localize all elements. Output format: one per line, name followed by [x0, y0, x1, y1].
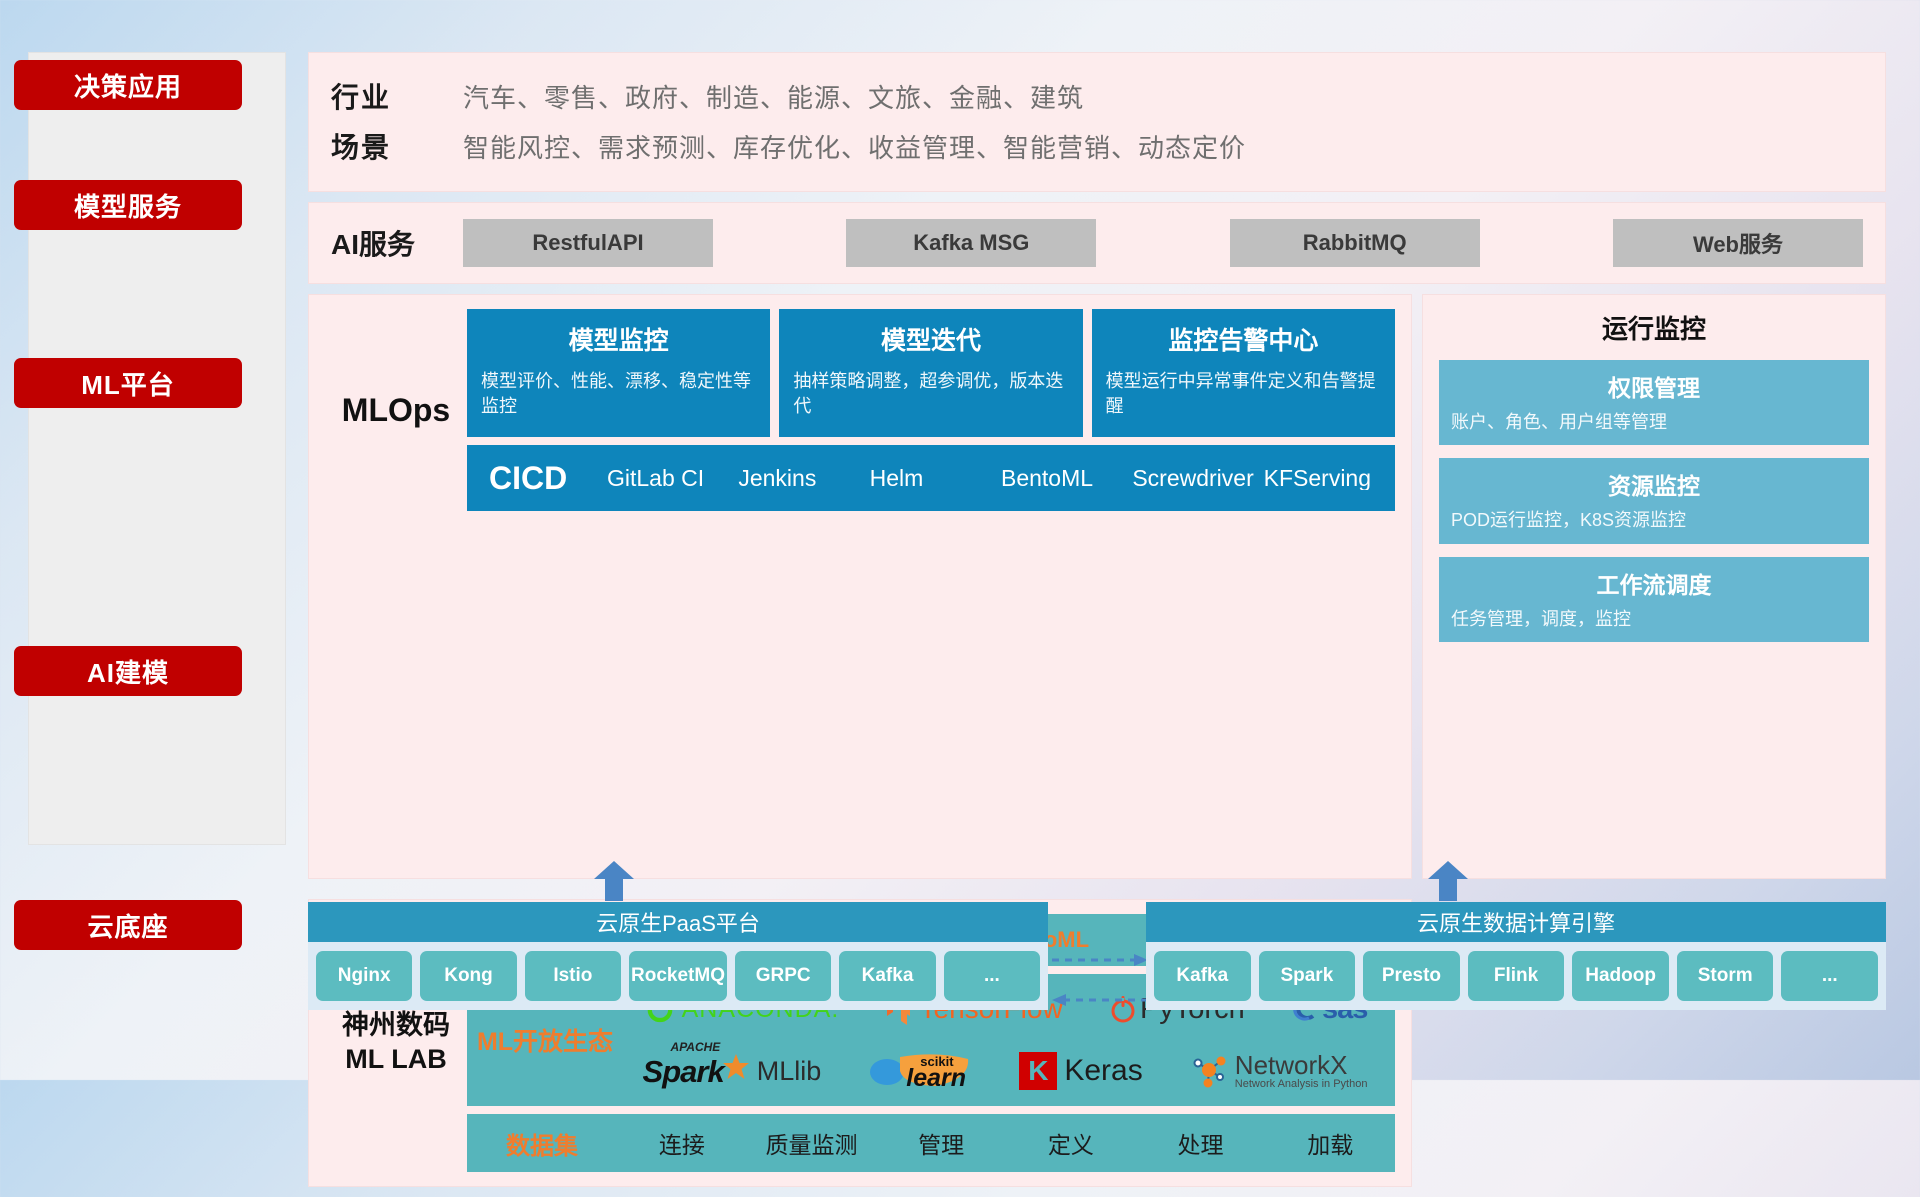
chip-spark[interactable]: Spark	[1259, 951, 1356, 1001]
chip-kafka[interactable]: Kafka	[839, 951, 935, 1001]
networkx-logo: NetworkX Network Analysis in Python	[1190, 1052, 1368, 1090]
keras-logo: K Keras	[1019, 1052, 1142, 1090]
dataset-item-define[interactable]: 定义	[1006, 1126, 1136, 1160]
service-box-restfulapi[interactable]: RestfulAPI	[463, 219, 713, 267]
cloud-paas-title: 云原生PaaS平台	[308, 902, 1048, 942]
cicd-item-jenkins[interactable]: Jenkins	[738, 466, 869, 490]
mlops-band: MLOps 模型监控 模型评价、性能、漂移、稳定性等监控 模型迭代 抽样策略调整…	[308, 294, 1412, 879]
chip-presto[interactable]: Presto	[1363, 951, 1460, 1001]
rail-tab-label: ML平台	[81, 365, 175, 402]
cicd-label: CICD	[489, 460, 607, 497]
industry-row: 行业 汽车、零售、政府、制造、能源、文旅、金融、建筑	[331, 71, 1863, 121]
chip-hadoop[interactable]: Hadoop	[1572, 951, 1669, 1001]
dataset-item-quality[interactable]: 质量监测	[747, 1126, 877, 1160]
application-band: 行业 汽车、零售、政府、制造、能源、文旅、金融、建筑 场景 智能风控、需求预测、…	[308, 52, 1886, 192]
industry-value: 汽车、零售、政府、制造、能源、文旅、金融、建筑	[463, 78, 1084, 115]
spark-mllib-logo: APACHE Spark MLlib	[643, 1052, 822, 1090]
bidirectional-dashed-arrows	[1050, 944, 1150, 1016]
networkx-graph-icon	[1190, 1053, 1230, 1089]
chip-kafka[interactable]: Kafka	[1154, 951, 1251, 1001]
chip-grpc[interactable]: GRPC	[735, 951, 831, 1001]
card-desc: 模型评价、性能、漂移、稳定性等监控	[481, 369, 756, 419]
keras-mark-icon: K	[1019, 1052, 1057, 1090]
card-title: 模型监控	[481, 321, 756, 357]
rail-tab-label: 模型服务	[74, 187, 182, 224]
chip-more[interactable]: ...	[1781, 951, 1878, 1001]
mlops-cards: 模型监控 模型评价、性能、漂移、稳定性等监控 模型迭代 抽样策略调整，超参调优，…	[467, 309, 1395, 437]
rail-tab-model-service[interactable]: 模型服务	[14, 180, 242, 230]
card-title: 监控告警中心	[1106, 321, 1381, 357]
monitor-card-workflow[interactable]: 工作流调度 任务管理，调度，监控	[1439, 557, 1869, 642]
chip-more[interactable]: ...	[944, 951, 1040, 1001]
industry-label: 行业	[331, 76, 463, 116]
card-title: 工作流调度	[1451, 566, 1857, 600]
dataset-item-process[interactable]: 处理	[1136, 1126, 1266, 1160]
dataset-item-manage[interactable]: 管理	[876, 1126, 1006, 1160]
mllib-wordmark: MLlib	[757, 1056, 822, 1087]
cicd-item-helm[interactable]: Helm	[870, 466, 1001, 490]
card-desc: 抽样策略调整，超参调优，版本迭代	[793, 369, 1068, 419]
monitor-panel-spacer	[1439, 655, 1869, 868]
learn-text: learn	[906, 1064, 966, 1093]
service-box-web[interactable]: Web服务	[1613, 219, 1863, 267]
card-title: 资源监控	[1451, 467, 1857, 501]
monitor-card-resource[interactable]: 资源监控 POD运行监控，K8S资源监控	[1439, 458, 1869, 543]
chip-rocketmq[interactable]: RocketMQ	[629, 951, 727, 1001]
mlops-row: MLOps 模型监控 模型评价、性能、漂移、稳定性等监控 模型迭代 抽样策略调整…	[308, 294, 1886, 889]
spark-wordmark: Spark	[643, 1054, 724, 1090]
rail-tab-label: 云底座	[87, 907, 168, 944]
cicd-bar: CICD GitLab CI Jenkins Helm BentoML Scre…	[467, 445, 1395, 511]
rail-tab-decision-app[interactable]: 决策应用	[14, 60, 242, 110]
rail-tab-ai-modeling[interactable]: AI建模	[14, 646, 242, 696]
service-box-kafka-msg[interactable]: Kafka MSG	[846, 219, 1096, 267]
scenario-label: 场景	[331, 126, 463, 166]
card-title: 权限管理	[1451, 369, 1857, 403]
chip-flink[interactable]: Flink	[1468, 951, 1565, 1001]
cloud-base-section: 云原生PaaS平台 Nginx Kong Istio RocketMQ GRPC…	[308, 902, 1886, 1052]
layer-rail	[28, 52, 286, 845]
dataset-item-connect[interactable]: 连接	[617, 1126, 747, 1160]
mlops-label: MLOps	[325, 309, 467, 511]
cicd-item-gitlab-ci[interactable]: GitLab CI	[607, 466, 738, 490]
monitor-panel-title: 运行监控	[1439, 309, 1869, 346]
rail-tab-cloud-base[interactable]: 云底座	[14, 900, 242, 950]
spark-star-icon	[721, 1052, 751, 1082]
cloud-paas-group: 云原生PaaS平台 Nginx Kong Istio RocketMQ GRPC…	[308, 902, 1048, 1010]
scenario-value: 智能风控、需求预测、库存优化、收益管理、智能营销、动态定价	[463, 128, 1246, 165]
mlops-card-alert-center[interactable]: 监控告警中心 模型运行中异常事件定义和告警提醒	[1092, 309, 1395, 437]
card-desc: POD运行监控，K8S资源监控	[1451, 508, 1857, 532]
scenario-row: 场景 智能风控、需求预测、库存优化、收益管理、智能营销、动态定价	[331, 121, 1863, 171]
cloud-data-engine-title: 云原生数据计算引擎	[1146, 902, 1886, 942]
cicd-item-kfserving[interactable]: KFServing	[1264, 466, 1395, 490]
networkx-wordmark: NetworkX	[1235, 1052, 1368, 1078]
cicd-item-bentoml[interactable]: BentoML	[1001, 466, 1132, 490]
chip-nginx[interactable]: Nginx	[316, 951, 412, 1001]
ai-service-band: AI服务 RestfulAPI Kafka MSG RabbitMQ Web服务	[308, 202, 1886, 284]
rail-tab-ml-platform[interactable]: ML平台	[14, 358, 242, 408]
keras-wordmark: Keras	[1064, 1054, 1142, 1088]
mlops-card-model-iteration[interactable]: 模型迭代 抽样策略调整，超参调优，版本迭代	[779, 309, 1082, 437]
chip-kong[interactable]: Kong	[420, 951, 516, 1001]
dataset-label: 数据集	[467, 1126, 617, 1161]
up-arrow-icon	[1426, 861, 1470, 901]
monitor-card-permission[interactable]: 权限管理 账户、角色、用户组等管理	[1439, 360, 1869, 445]
rail-tab-label: AI建模	[87, 653, 169, 690]
card-desc: 模型运行中异常事件定义和告警提醒	[1106, 369, 1381, 419]
monitor-panel: 运行监控 权限管理 账户、角色、用户组等管理 资源监控 POD运行监控，K8S资…	[1422, 294, 1886, 879]
dataset-bar: 数据集 连接 质量监测 管理 定义 处理 加载	[467, 1114, 1395, 1172]
card-desc: 账户、角色、用户组等管理	[1451, 410, 1857, 434]
service-box-rabbitmq[interactable]: RabbitMQ	[1230, 219, 1480, 267]
cloud-data-engine-chips: Kafka Spark Presto Flink Hadoop Storm ..…	[1146, 942, 1886, 1010]
mlops-card-model-monitoring[interactable]: 模型监控 模型评价、性能、漂移、稳定性等监控	[467, 309, 770, 437]
cicd-items: GitLab CI Jenkins Helm BentoML Screwdriv…	[607, 466, 1395, 490]
keras-mark-letter: K	[1028, 1055, 1048, 1087]
ai-service-items: RestfulAPI Kafka MSG RabbitMQ Web服务	[463, 219, 1863, 267]
chip-storm[interactable]: Storm	[1677, 951, 1774, 1001]
cicd-item-screwdriver[interactable]: Screwdriver	[1132, 466, 1263, 490]
ai-service-label: AI服务	[331, 223, 463, 263]
architecture-diagram: 决策应用 模型服务 ML平台 AI建模 云底座 行业 汽车、零售、政府、制造、能…	[0, 0, 1920, 1080]
chip-istio[interactable]: Istio	[525, 951, 621, 1001]
cloud-data-engine-group: 云原生数据计算引擎 Kafka Spark Presto Flink Hadoo…	[1146, 902, 1886, 1010]
dataset-item-load[interactable]: 加载	[1265, 1126, 1395, 1160]
scikit-learn-logo: scikit learn	[868, 1053, 972, 1089]
rail-tab-label: 决策应用	[74, 67, 182, 104]
up-arrow-icon	[592, 861, 636, 901]
cloud-paas-chips: Nginx Kong Istio RocketMQ GRPC Kafka ...	[308, 942, 1048, 1010]
card-title: 模型迭代	[793, 321, 1068, 357]
card-desc: 任务管理，调度，监控	[1451, 607, 1857, 631]
